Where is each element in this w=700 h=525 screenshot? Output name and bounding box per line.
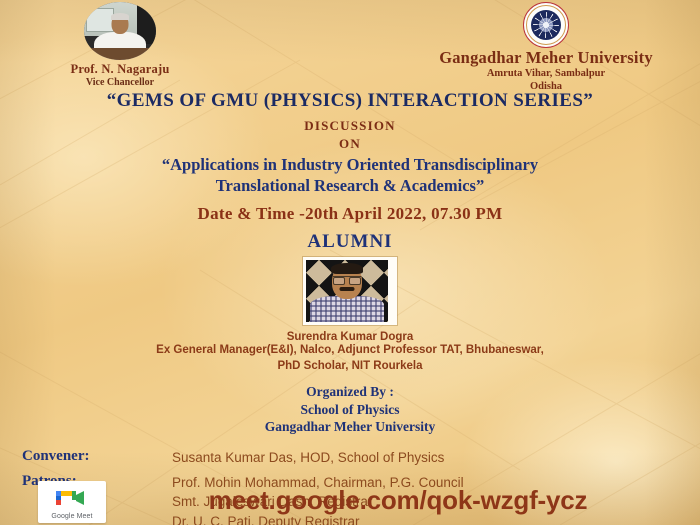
date-time: Date & Time -20th April 2022, 07.30 PM: [0, 204, 700, 224]
google-meet-label: Google Meet: [41, 513, 103, 520]
vice-chancellor-photo: [84, 2, 156, 60]
google-meet-icon: [50, 485, 94, 511]
poster-header: Prof. N. Nagaraju Vice Chancellor Gangad…: [0, 0, 700, 88]
event-poster: Prof. N. Nagaraju Vice Chancellor Gangad…: [0, 0, 700, 525]
convener-label: Convener:: [22, 448, 172, 465]
organized-by-label: Organized By :: [0, 383, 700, 401]
alumni-photo: [306, 260, 388, 322]
vice-chancellor-role: Vice Chancellor: [50, 77, 190, 89]
organized-by-line2: Gangadhar Meher University: [0, 418, 700, 436]
meet-url[interactable]: meet.google.com/qok-wzgf-ycz: [106, 485, 700, 520]
alumni-name: Surendra Kumar Dogra: [0, 331, 700, 343]
university-name: Gangadhar Meher University: [396, 49, 696, 67]
discussion-label: DISCUSSION: [0, 117, 700, 135]
convener-value-1: Susanta Kumar Das, HOD, School of Physic…: [172, 448, 444, 468]
organized-by-block: Organized By : School of Physics Gangadh…: [0, 383, 700, 436]
on-label: ON: [0, 135, 700, 153]
university-block: Gangadhar Meher University Amruta Vihar,…: [396, 2, 696, 93]
topic-line-2: Translational Research & Academics”: [0, 176, 700, 197]
university-address-line1: Amruta Vihar, Sambalpur: [396, 67, 696, 80]
alumni-credentials-line1: Ex General Manager(E&I), Nalco, Adjunct …: [0, 343, 700, 359]
topic-block: “Applications in Industry Oriented Trans…: [0, 155, 700, 196]
poster-footer: Google Meet meet.google.com/qok-wzgf-ycz: [0, 481, 700, 523]
google-meet-badge: Google Meet: [38, 481, 106, 523]
university-address-line2: Odisha: [396, 80, 696, 93]
vice-chancellor-name: Prof. N. Nagaraju: [50, 63, 190, 77]
vice-chancellor-block: Prof. N. Nagaraju Vice Chancellor: [50, 2, 190, 89]
alumni-photo-frame: [303, 257, 397, 325]
organized-by-line1: School of Physics: [0, 401, 700, 419]
alumni-credentials-line2: PhD Scholar, NIT Rourkela: [0, 359, 700, 375]
alumni-heading: ALUMNI: [0, 231, 700, 253]
university-seal-icon: [523, 2, 569, 48]
convener-row: Convener: Susanta Kumar Das, HOD, School…: [22, 448, 700, 468]
convener-values: Susanta Kumar Das, HOD, School of Physic…: [172, 448, 444, 468]
discussion-block: DISCUSSION ON: [0, 117, 700, 152]
topic-line-1: “Applications in Industry Oriented Trans…: [0, 155, 700, 176]
